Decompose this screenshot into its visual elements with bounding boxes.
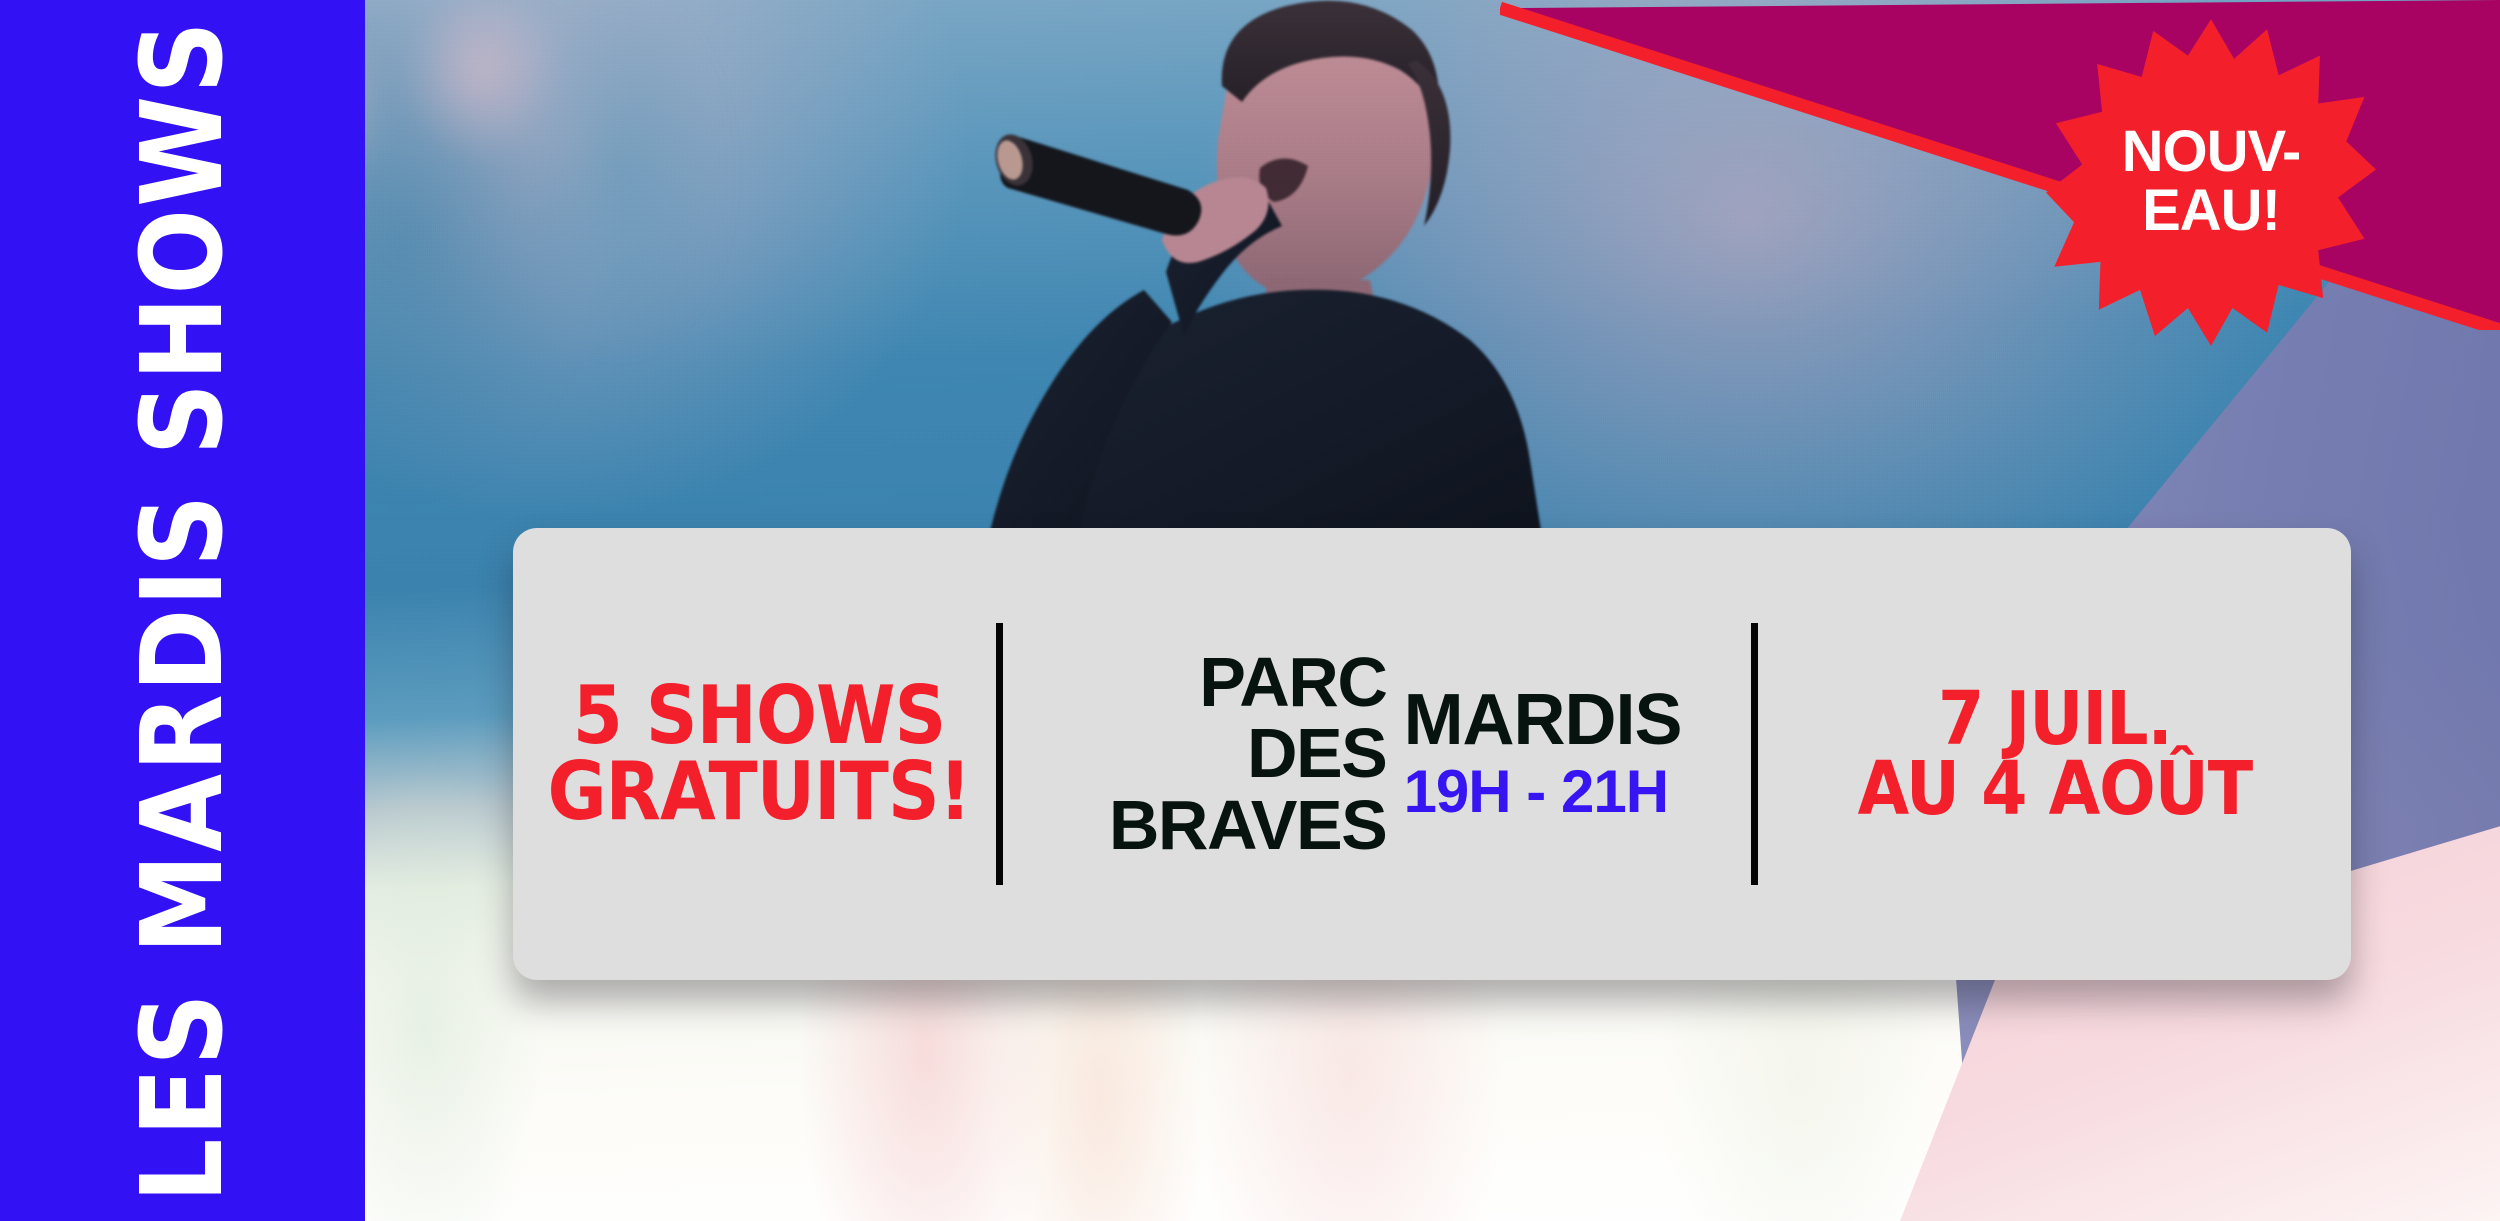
event-banner: LES MARDIS SHOWS NOUV- EAU! 5 SHOWS GRAT… [0,0,2500,1221]
schedule-time: 19H - 21H [1404,759,1668,825]
dates-line1: 7 JUIL. [1938,684,2172,754]
dates-line2: AU 4 AOÛT [1858,754,2253,824]
free-shows-line2: GRATUITS! [547,754,970,830]
sidebar-title: LES MARDIS SHOWS [127,19,239,1203]
venue-line1: PARC [1199,647,1386,718]
schedule-day: MARDIS [1404,683,1682,759]
free-shows-block: 5 SHOWS GRATUITS! [529,528,979,980]
free-shows-line1: 5 SHOWS [573,678,946,754]
venue-block: PARC DES BRAVES [1020,528,1386,980]
schedule-block: MARDIS 19H - 21H [1404,528,1734,980]
singer-silhouette [930,0,1670,550]
dates-block: 7 JUIL. AU 4 AOÛT [1775,528,2335,980]
card-divider-1 [996,623,1003,885]
event-info-card: 5 SHOWS GRATUITS! PARC DES BRAVES MARDIS… [513,528,2351,980]
card-divider-2 [1751,623,1758,885]
starburst-icon [2046,16,2376,346]
sidebar: LES MARDIS SHOWS [0,0,365,1221]
nouveau-badge[interactable]: NOUV- EAU! [2046,16,2376,346]
venue-line3: BRAVES [1109,790,1387,861]
venue-line2: DES [1247,718,1386,789]
